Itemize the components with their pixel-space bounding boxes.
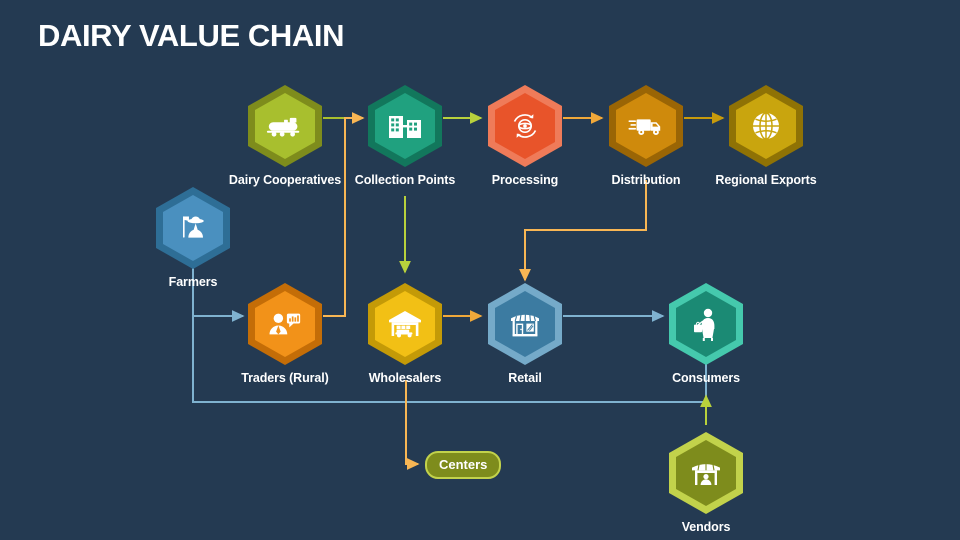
connector-wholesalers-to-centers	[406, 380, 418, 464]
gear-cycle-icon	[487, 84, 563, 168]
dairy-cooperatives-label: Dairy Cooperatives	[225, 173, 345, 188]
traders-label: Traders (Rural)	[225, 371, 345, 386]
connector-distribution-to-retail	[525, 180, 646, 280]
node-traders-rural[interactable]: Traders (Rural)	[225, 282, 345, 386]
trader-person-icon	[247, 282, 323, 366]
collection-points-hexagon	[367, 84, 443, 168]
processing-label: Processing	[465, 173, 585, 188]
processing-hexagon	[487, 84, 563, 168]
distribution-hexagon	[608, 84, 684, 168]
globe-icon	[728, 84, 804, 168]
centers-badge[interactable]: Centers	[425, 451, 501, 479]
distribution-label: Distribution	[586, 173, 706, 188]
shopper-icon	[668, 282, 744, 366]
market-stall-icon	[668, 431, 744, 515]
wholesalers-label: Wholesalers	[345, 371, 465, 386]
node-dairy-cooperatives[interactable]: Dairy Cooperatives	[225, 84, 345, 188]
node-collection-points[interactable]: Collection Points	[345, 84, 465, 188]
milk-tanker-icon	[247, 84, 323, 168]
farmers-hexagon	[155, 186, 231, 270]
warehouse-icon	[367, 282, 443, 366]
regional-exports-label: Regional Exports	[706, 173, 826, 188]
farmer-icon	[155, 186, 231, 270]
wholesalers-hexagon	[367, 282, 443, 366]
dairy-cooperatives-hexagon	[247, 84, 323, 168]
consumers-label: Consumers	[646, 371, 766, 386]
node-retail[interactable]: Retail	[465, 282, 585, 386]
slide-canvas: DAIRY VALUE CHAIN	[0, 0, 960, 540]
consumers-hexagon	[668, 282, 744, 366]
node-vendors[interactable]: Vendors	[646, 431, 766, 535]
node-farmers[interactable]: Farmers	[133, 186, 253, 290]
retail-hexagon	[487, 282, 563, 366]
regional-exports-hexagon	[728, 84, 804, 168]
node-distribution[interactable]: Distribution	[586, 84, 706, 188]
node-wholesalers[interactable]: Wholesalers	[345, 282, 465, 386]
storefront-icon	[487, 282, 563, 366]
vendors-label: Vendors	[646, 520, 766, 535]
vendors-hexagon	[668, 431, 744, 515]
node-processing[interactable]: Processing	[465, 84, 585, 188]
retail-label: Retail	[465, 371, 585, 386]
delivery-truck-icon	[608, 84, 684, 168]
node-regional-exports[interactable]: Regional Exports	[706, 84, 826, 188]
collection-points-label: Collection Points	[345, 173, 465, 188]
traders-hexagon	[247, 282, 323, 366]
building-icon	[367, 84, 443, 168]
node-consumers[interactable]: Consumers	[646, 282, 766, 386]
